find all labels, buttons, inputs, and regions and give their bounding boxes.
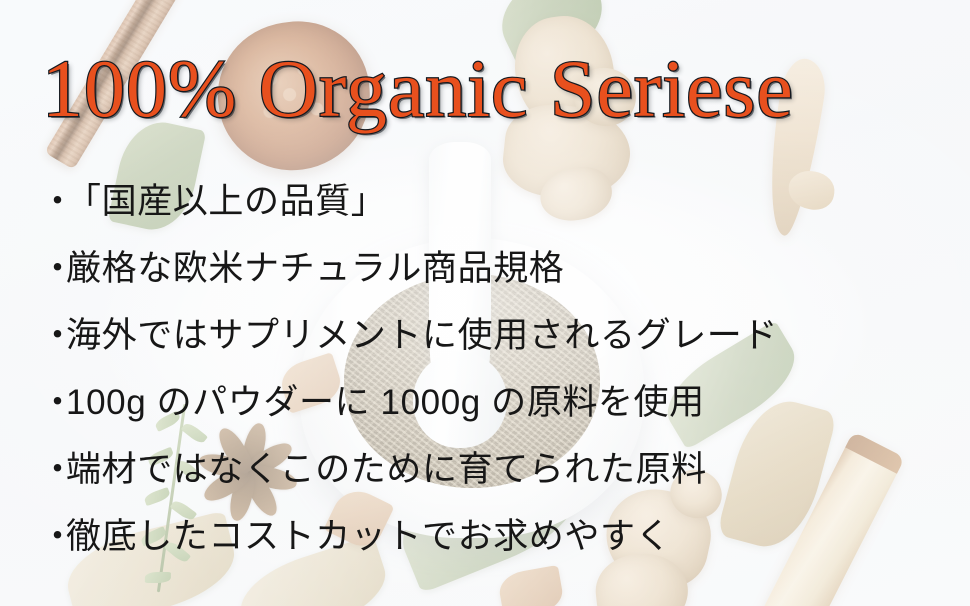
list-item-label: 徹底したコストカットでお求めやすく (66, 503, 671, 570)
banner-headline: 100% Organic Seriese (42, 48, 942, 130)
bullet-marker-icon: ・ (40, 436, 66, 503)
list-item: ・ 徹底したコストカットでお求めやすく (40, 503, 960, 570)
bullet-marker-icon: ・ (40, 302, 66, 369)
list-item: ・ 海外ではサプリメントに使用されるグレード (40, 302, 960, 369)
list-item-label: 端材ではなくこのために育てられた原料 (66, 436, 707, 503)
bullet-marker-icon: ・ (40, 503, 66, 570)
list-item-label: 「国産以上の品質」 (66, 168, 386, 235)
list-item: ・ 「国産以上の品質」 (40, 168, 960, 235)
list-item-label: 海外ではサプリメントに使用されるグレード (66, 302, 778, 369)
list-item: ・ 100g のパウダーに 1000g の原料を使用 (40, 369, 960, 436)
banner-content: 100% Organic Seriese ・ 「国産以上の品質」 ・ 厳格な欧米… (0, 0, 970, 606)
bullet-marker-icon: ・ (40, 235, 66, 302)
list-item: ・ 端材ではなくこのために育てられた原料 (40, 436, 960, 503)
list-item: ・ 厳格な欧米ナチュラル商品規格 (40, 235, 960, 302)
list-item-label: 100g のパウダーに 1000g の原料を使用 (66, 369, 705, 436)
list-item-label: 厳格な欧米ナチュラル商品規格 (66, 235, 564, 302)
organic-series-banner: 100% Organic Seriese ・ 「国産以上の品質」 ・ 厳格な欧米… (0, 0, 970, 606)
feature-bullet-list: ・ 「国産以上の品質」 ・ 厳格な欧米ナチュラル商品規格 ・ 海外ではサプリメン… (40, 168, 960, 570)
bullet-marker-icon: ・ (40, 369, 66, 436)
bullet-marker-icon: ・ (40, 168, 66, 235)
